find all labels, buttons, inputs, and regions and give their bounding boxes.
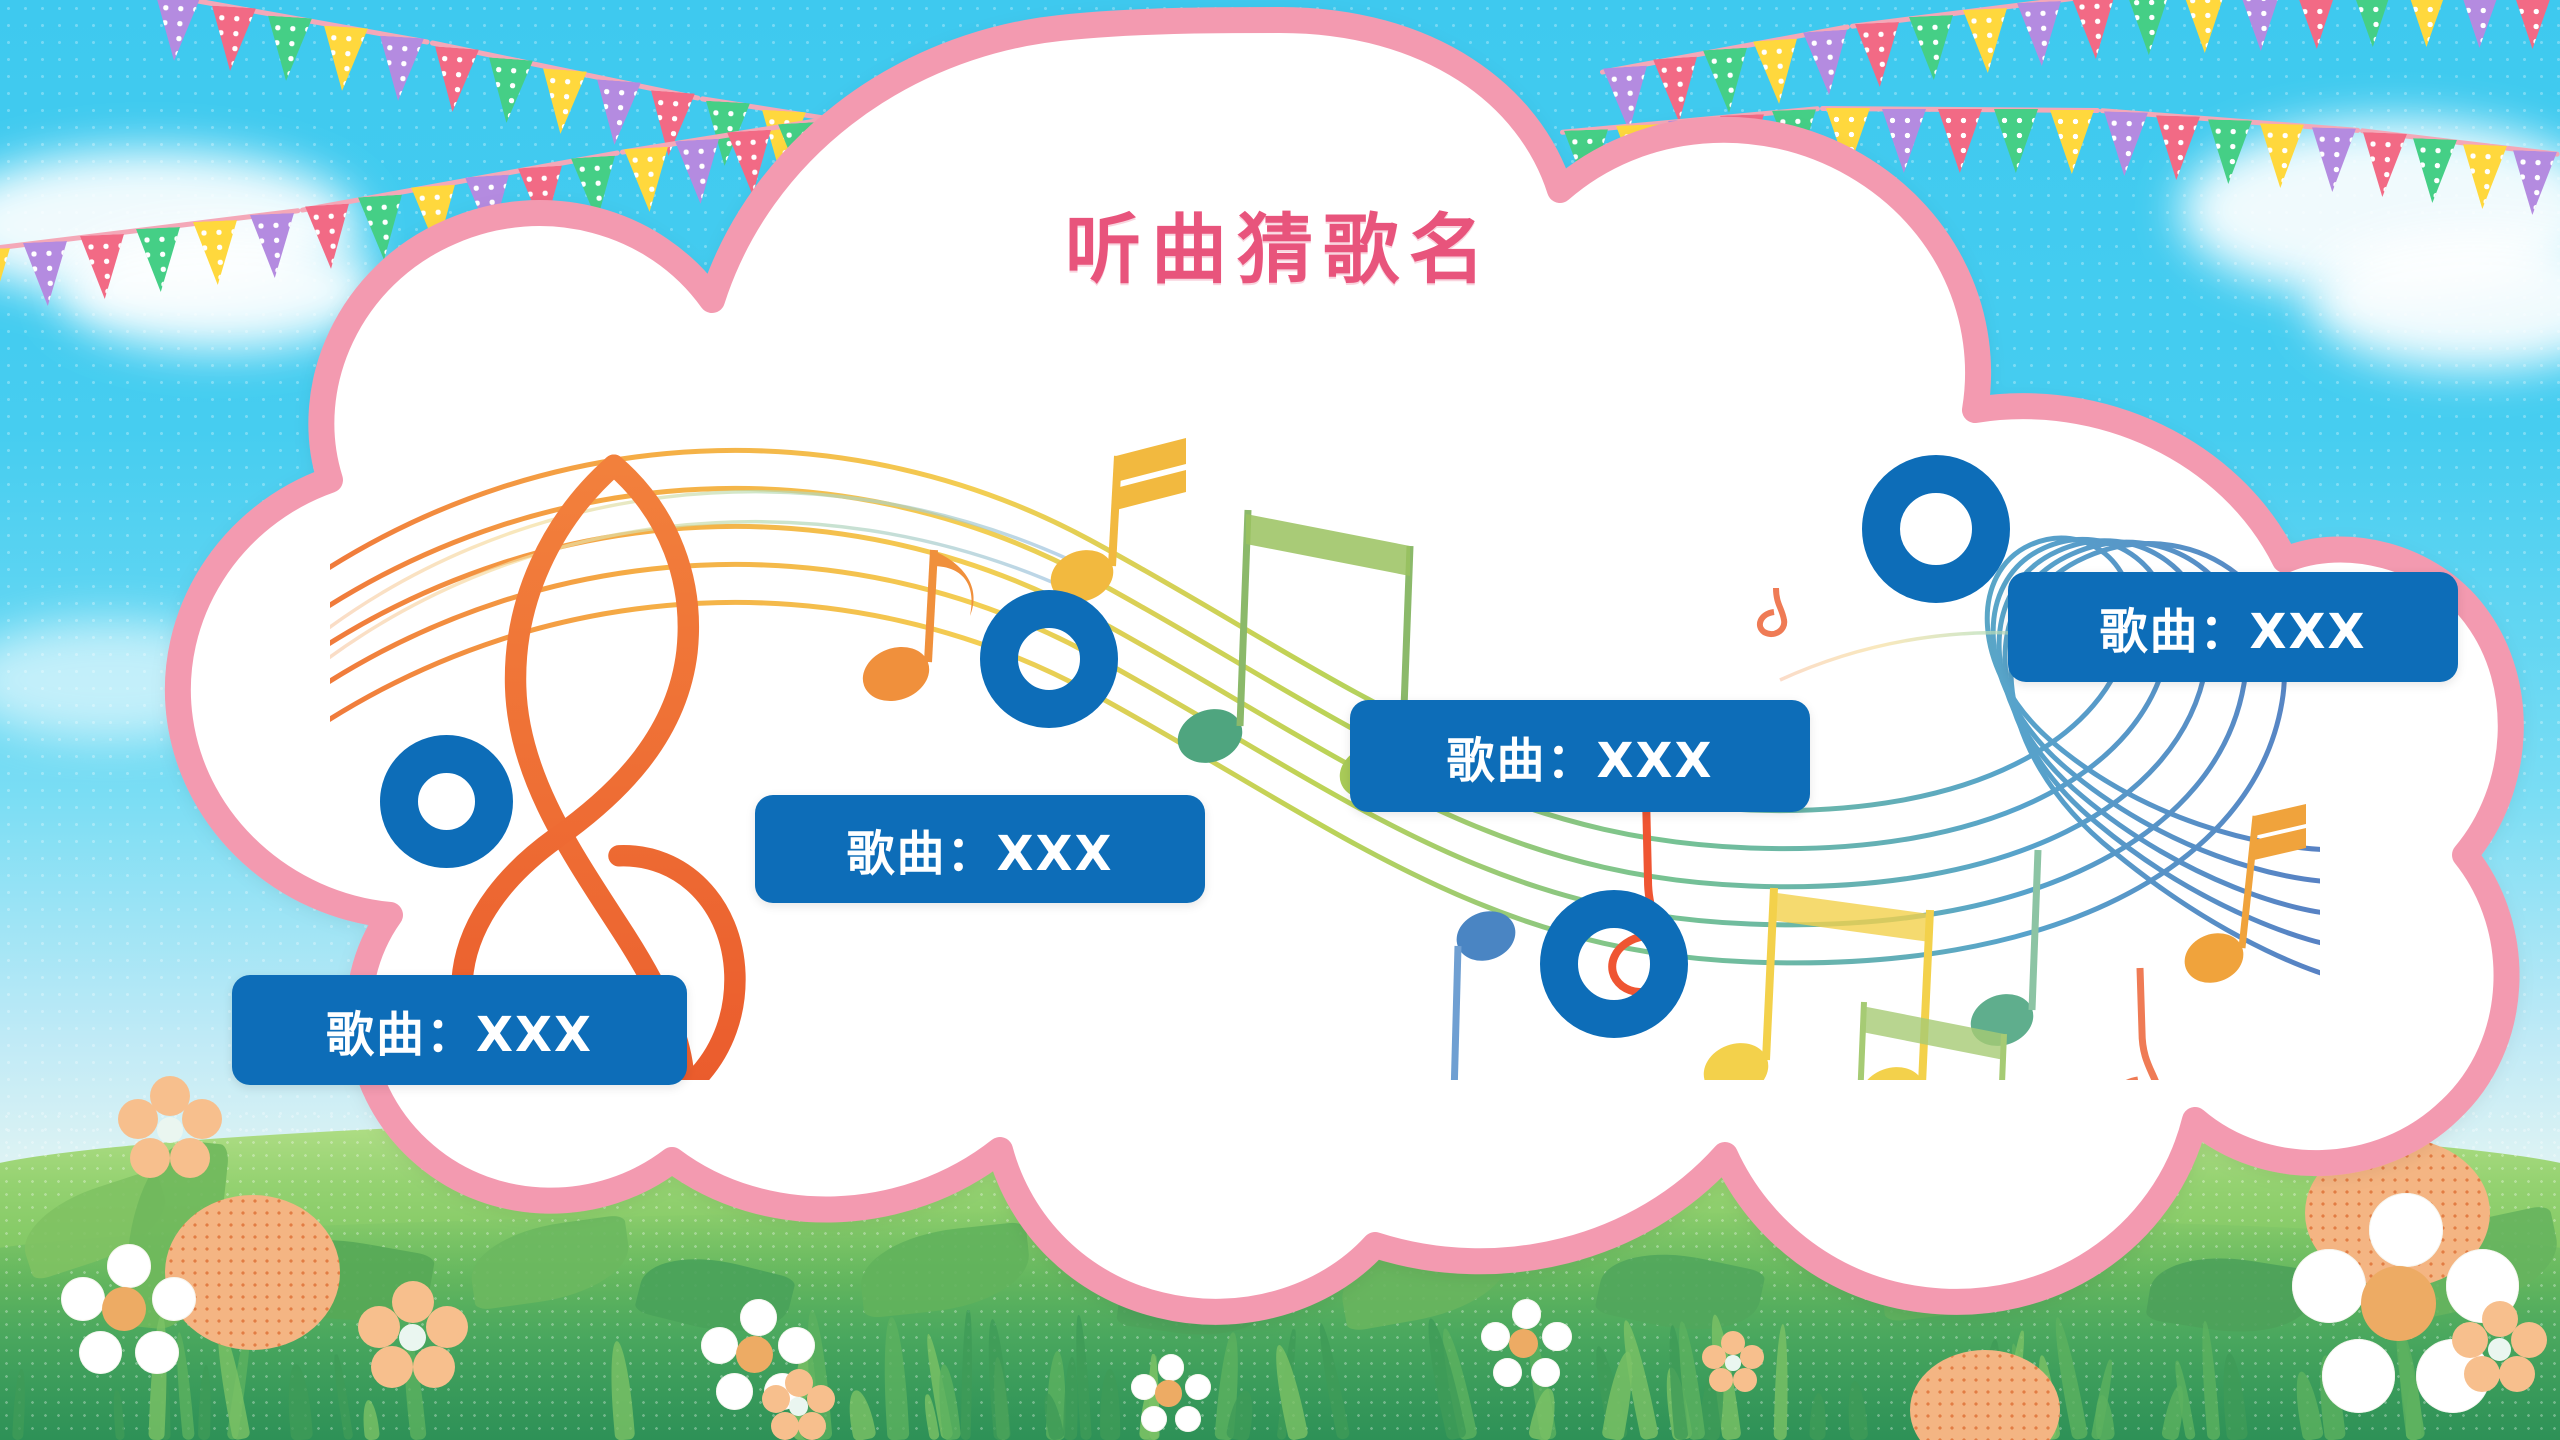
page-title: 听曲猜歌名 [0, 188, 2560, 298]
song-label-text: 歌曲：XXX [846, 814, 1113, 884]
song-label-3[interactable]: 歌曲：XXX [1350, 700, 1810, 812]
answer-marker-3[interactable] [1540, 890, 1688, 1038]
song-label-text: 歌曲：XXX [1446, 721, 1713, 791]
song-label-text: 歌曲：XXX [2099, 592, 2366, 662]
answer-marker-2[interactable] [980, 590, 1118, 728]
answer-marker-1[interactable] [380, 735, 513, 868]
song-label-2[interactable]: 歌曲：XXX [755, 795, 1205, 903]
song-label-4[interactable]: 歌曲：XXX [2008, 572, 2458, 682]
song-label-1[interactable]: 歌曲：XXX [232, 975, 687, 1085]
answer-marker-4[interactable] [1862, 455, 2010, 603]
song-label-text: 歌曲：XXX [326, 995, 593, 1065]
slide-root: 听曲猜歌名 [0, 0, 2560, 1440]
